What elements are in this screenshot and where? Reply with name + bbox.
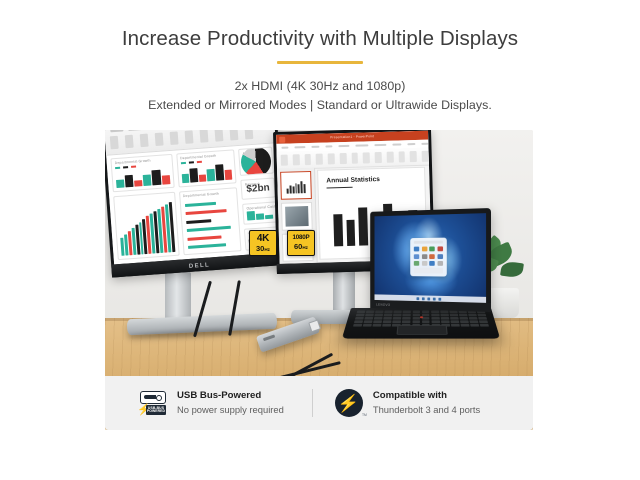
dashboard-column: Departmental Growth <box>110 154 179 260</box>
card-bars <box>115 164 170 188</box>
subtitle-block: 2x HDMI (4K 30Hz and 1080p) Extended or … <box>0 77 640 115</box>
dashboard-card: Departmental Growth <box>176 149 237 187</box>
slide-title-underline <box>327 187 353 189</box>
slide-thumbnail <box>280 171 312 200</box>
title-underline-accent <box>277 61 363 64</box>
slide-thumbnail <box>281 202 313 231</box>
thunderbolt-icon: ⚡ TM <box>335 389 363 417</box>
card-bars <box>181 160 233 183</box>
dashboard-card: Departmental Growth <box>179 187 242 255</box>
dashboard-card <box>113 192 179 260</box>
pie-chart <box>240 147 272 176</box>
kpi-value: $2bn <box>246 182 270 195</box>
powerpoint-window-title: Presentation1 - PowerPoint <box>330 134 374 139</box>
slide-title: Annual Statistics <box>326 176 380 184</box>
usb-badge-line2: POWERED <box>147 410 165 413</box>
feature-subtitle: Thunderbolt 3 and 4 ports <box>373 404 480 416</box>
thumbnail-image <box>285 206 309 227</box>
usb-bus-powered-icon: ⚡ USB-BUS POWERED <box>137 390 167 416</box>
4k-badge-line2: 30Hz <box>256 245 270 253</box>
feature-text: Compatible with Thunderbolt 3 and 4 port… <box>373 390 480 416</box>
subtitle-line-2: Extended or Mirrored Modes | Standard or… <box>0 96 640 115</box>
feature-title: USB Bus-Powered <box>177 390 284 402</box>
usb-bus-powered-badge: USB-BUS POWERED <box>146 405 166 415</box>
card-bars <box>247 207 274 221</box>
page-title: Increase Productivity with Multiple Disp… <box>0 26 640 52</box>
thunderbolt-bolt-glyph: ⚡ <box>337 395 360 412</box>
dashboard-card-kpi: Revenue $2bn <box>240 177 275 199</box>
feature-usb-bus-powered: ⚡ USB-BUS POWERED USB Bus-Powered No pow… <box>137 390 284 416</box>
start-menu-search <box>414 241 443 244</box>
dell-logo: DELL <box>189 262 211 270</box>
usb-plug-shape <box>140 391 166 404</box>
laptop: LENOVO <box>351 208 491 358</box>
4k-badge: 4K 30Hz <box>249 230 277 256</box>
4k-badge-unit: Hz <box>264 247 270 252</box>
feature-title: Compatible with <box>373 390 480 402</box>
trackpoint <box>419 316 422 318</box>
card-title: Departmental Growth <box>115 158 151 165</box>
card-title: Departmental Growth <box>183 192 219 199</box>
thumbnail-bars <box>286 180 305 194</box>
laptop-base <box>342 308 500 339</box>
powerpoint-app-icon <box>279 136 285 142</box>
1080p-badge: 1080P 60Hz <box>287 230 315 256</box>
feature-subtitle: No power supply required <box>177 404 284 416</box>
card-bars <box>118 200 175 256</box>
feature-thunderbolt: ⚡ TM Compatible with Thunderbolt 3 and 4… <box>335 389 480 417</box>
dashboard-card: Departmental Growth <box>110 154 174 192</box>
1080p-badge-line2: 60Hz <box>294 243 308 251</box>
trademark-mark: TM <box>362 413 367 417</box>
4k-badge-line1: 4K <box>257 234 269 244</box>
laptop-screen <box>374 213 486 303</box>
dashboard-column: Departmental Growth <box>176 149 242 255</box>
feature-bar: ⚡ USB-BUS POWERED USB Bus-Powered No pow… <box>105 376 533 430</box>
dashboard-card: Operational Cost <box>242 201 277 225</box>
lenovo-logo: LENOVO <box>376 303 390 307</box>
start-menu-app-grid <box>414 247 443 266</box>
feature-divider <box>312 389 313 417</box>
1080p-badge-line1: 1080P <box>293 235 310 241</box>
product-marketing-image: Increase Productivity with Multiple Disp… <box>0 0 640 480</box>
start-menu <box>410 238 447 277</box>
card-title: Departmental Growth <box>180 154 216 161</box>
ribbon-icons <box>110 130 254 149</box>
subtitle-line-1: 2x HDMI (4K 30Hz and 1080p) <box>0 77 640 96</box>
1080p-badge-unit: Hz <box>302 245 308 250</box>
laptop-lid: LENOVO <box>370 208 491 312</box>
feature-text: USB Bus-Powered No power supply required <box>177 390 284 416</box>
touchpad <box>396 325 447 335</box>
card-horizontal-bars <box>184 198 236 250</box>
keyboard-row <box>354 320 488 323</box>
header: Increase Productivity with Multiple Disp… <box>0 26 640 115</box>
left-monitor-stand-neck <box>165 272 191 320</box>
start-menu-user-row <box>414 267 443 273</box>
dashboard-card-pie: Additional Growth <box>238 147 274 176</box>
